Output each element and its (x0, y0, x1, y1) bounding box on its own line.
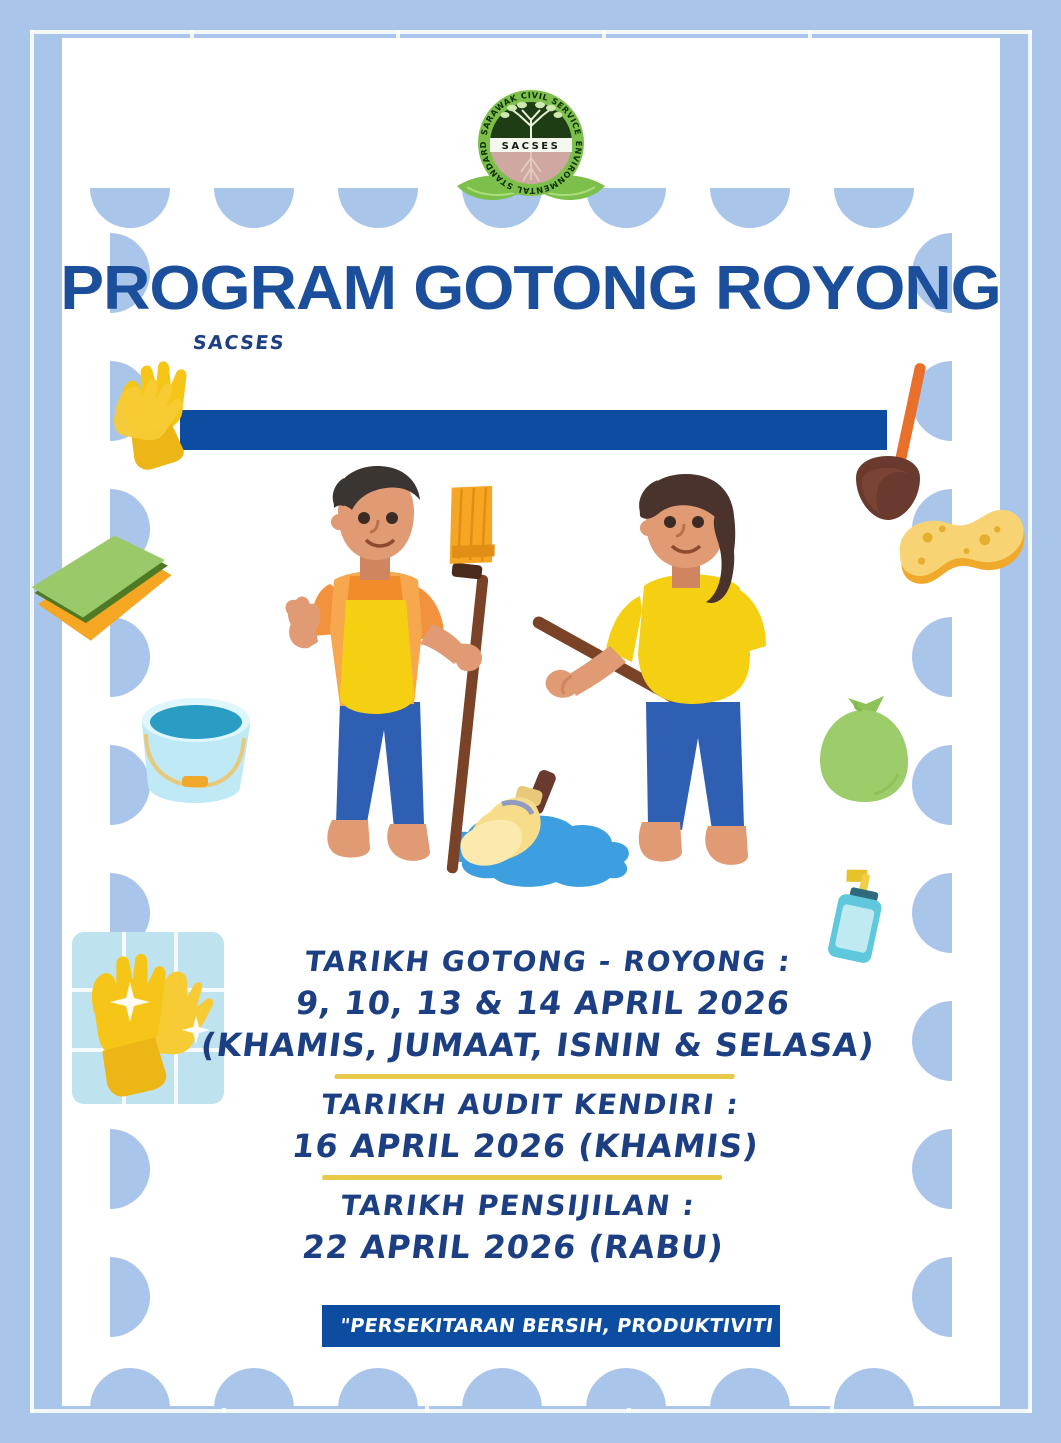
logo-center-text: SACSES (501, 141, 560, 152)
frame-seam-bottom (30, 1409, 1032, 1413)
page-subtitle: SACSES (192, 332, 287, 354)
gotong-royong-date-label: TARIKH GOTONG - ROYONG : (15, 942, 1061, 982)
frame-seam-top (30, 30, 1032, 34)
audit-kendiri-date-value: 16 APRIL 2026 (KHAMIS) (0, 1125, 1059, 1167)
tagline-banner: "PERSEKITARAN BERSIH, PRODUKTIVITI MENIN… (322, 1305, 780, 1347)
logo-container: SACSES SARAWAK CIVIL SERVICE ENVIRONMENT… (0, 88, 1061, 208)
divider-1 (334, 1074, 735, 1079)
sacses-logo: SACSES SARAWAK CIVIL SERVICE ENVIRONMENT… (427, 88, 635, 208)
rubber-gloves-pair-top-left-icon (92, 352, 212, 482)
water-bucket-left-icon (128, 690, 258, 810)
page-title: PROGRAM GOTONG ROYONG (0, 253, 1061, 324)
gotong-royong-date-value-2: (KHAMIS, JUMAAT, ISNIN & SELASA) (5, 1024, 1061, 1066)
scrub-sponge-left-icon (24, 542, 184, 652)
tagline-text: "PERSEKITARAN BERSIH, PRODUKTIVITI MENIN… (322, 1315, 780, 1337)
peanut-sponge-right-icon (892, 500, 1032, 620)
garbage-bag-right-icon (812, 682, 922, 812)
divider-2 (321, 1175, 722, 1180)
boy-with-broom-icon (282, 464, 562, 904)
pensijilan-date-value: 22 APRIL 2026 (RABU) (0, 1226, 1046, 1268)
title-accent-bar (180, 410, 887, 450)
poster-canvas: SACSES SARAWAK CIVIL SERVICE ENVIRONMENT… (0, 0, 1061, 1443)
dates-block: TARIKH GOTONG - ROYONG : 9, 10, 13 & 14 … (0, 942, 1061, 1268)
audit-kendiri-date-label: TARIKH AUDIT KENDIRI : (0, 1085, 1061, 1125)
scallop-row-bottom (90, 1368, 914, 1408)
pensijilan-date-label: TARIKH PENSIJILAN : (0, 1186, 1051, 1226)
gotong-royong-date-value-1: 9, 10, 13 & 14 APRIL 2026 (10, 982, 1061, 1024)
girl-with-mop-icon (528, 470, 808, 910)
